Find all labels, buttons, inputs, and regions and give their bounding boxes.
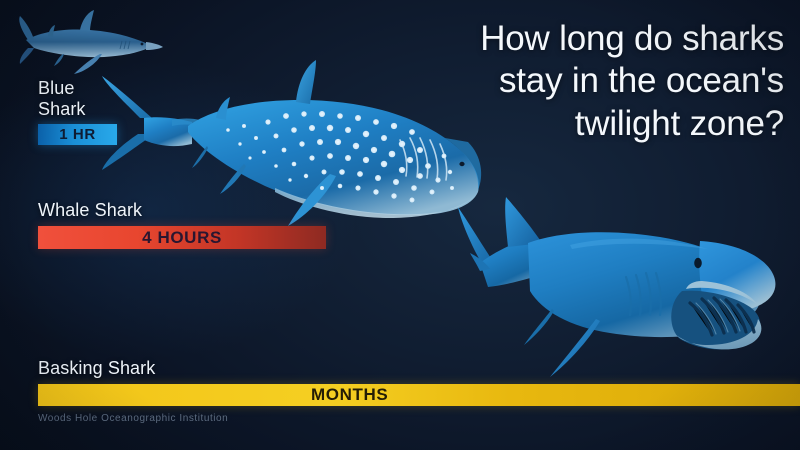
headline-line-3: twilight zone? [344, 103, 784, 145]
headline-line-2: stay in the ocean's [344, 60, 784, 102]
basking-shark-label: Basking Shark [38, 358, 800, 379]
whale-shark-label: Whale Shark [38, 200, 326, 221]
blue-shark-label: Blue Shark [38, 78, 117, 120]
headline: How long do sharks stay in the ocean's t… [344, 18, 784, 145]
whale-shark-duration: 4 HOURS [142, 228, 222, 248]
blue-shark-illustration [18, 10, 168, 80]
blue-shark-duration: 1 HR [59, 126, 96, 143]
blue-shark-row: Blue Shark 1 HR [38, 78, 117, 145]
whale-shark-bar: 4 HOURS [38, 226, 326, 249]
headline-line-1: How long do sharks [344, 18, 784, 60]
whale-shark-row: Whale Shark 4 HOURS [38, 200, 326, 249]
basking-shark-row: Basking Shark MONTHS [38, 358, 800, 406]
source-credit: Woods Hole Oceanographic Institution [38, 413, 228, 424]
blue-shark-bar: 1 HR [38, 124, 117, 145]
basking-shark-duration: MONTHS [311, 385, 388, 405]
infographic-canvas: How long do sharks stay in the ocean's t… [0, 0, 800, 450]
basking-shark-bar: MONTHS [38, 384, 800, 406]
